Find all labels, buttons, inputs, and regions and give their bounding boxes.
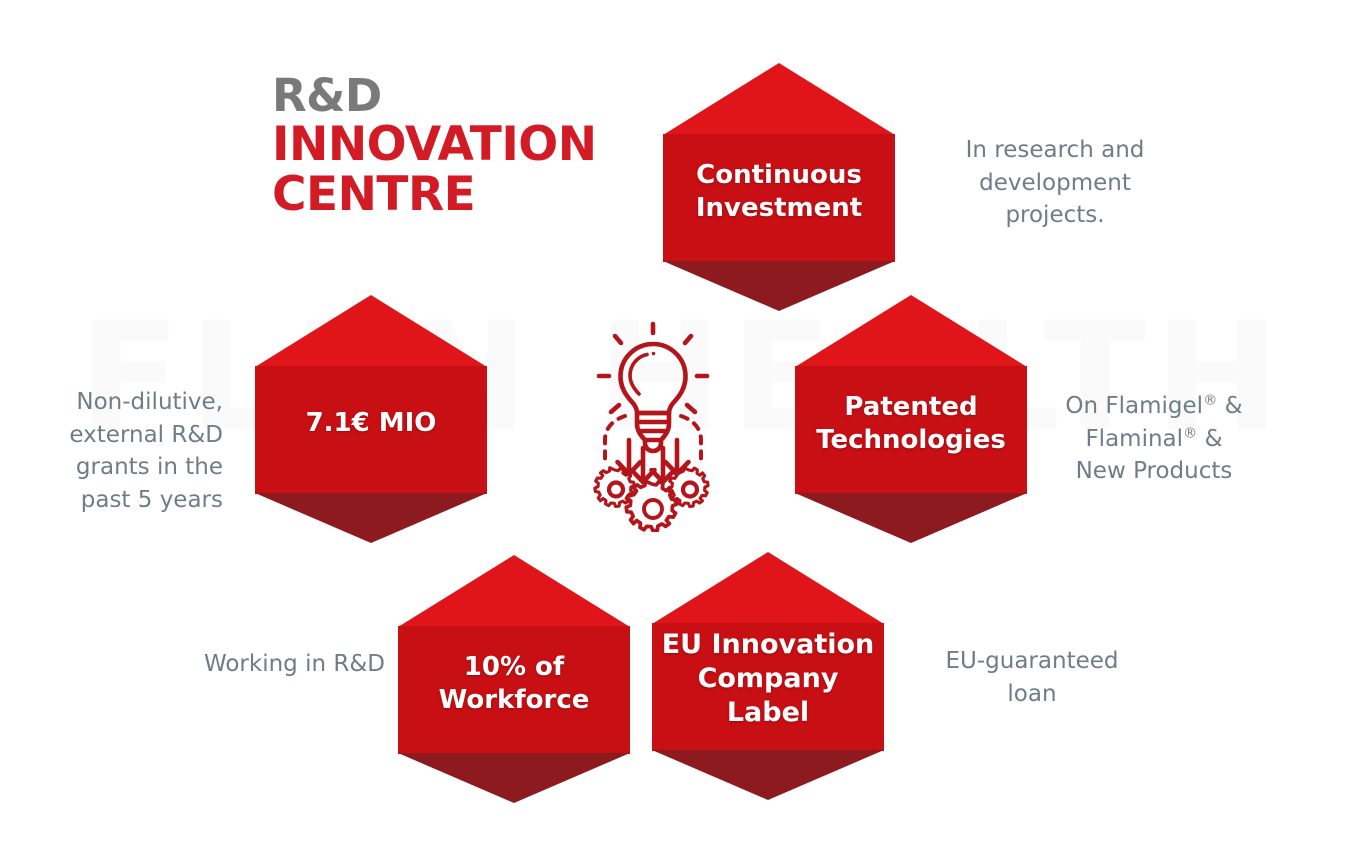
registered-trademark-icon: ® xyxy=(1183,425,1197,441)
note-line: On Flamigel® & xyxy=(1040,390,1268,423)
page-title: R&D INNOVATION CENTRE xyxy=(272,72,632,219)
note-line: In research and xyxy=(930,134,1180,167)
hexagon-workforce[interactable]: 10% of Workforce xyxy=(398,555,630,803)
note-text: On Flamigel xyxy=(1065,393,1203,419)
note-eu-innovation: EU-guaranteed loan xyxy=(912,645,1152,710)
note-text: & xyxy=(1197,426,1222,452)
note-line: Flaminal® & xyxy=(1040,423,1268,456)
title-line-centre: CENTRE xyxy=(272,170,632,220)
note-continuous-investment: In research and development projects. xyxy=(930,134,1180,232)
note-grants: Non-dilutive, external R&D grants in the… xyxy=(8,386,223,517)
note-workforce: Working in R&D xyxy=(160,648,385,681)
note-line: New Products xyxy=(1040,455,1268,488)
note-line: loan xyxy=(912,678,1152,711)
note-line: past 5 years xyxy=(8,484,223,517)
registered-trademark-icon: ® xyxy=(1203,392,1217,408)
note-line: external R&D xyxy=(8,419,223,452)
note-line: development xyxy=(930,167,1180,200)
note-line: Working in R&D xyxy=(160,648,385,681)
hexagon-grants-amount[interactable]: 7.1€ MIO xyxy=(255,295,487,543)
hexagon-continuous-investment[interactable]: Continuous Investment xyxy=(663,63,895,311)
note-line: Non-dilutive, xyxy=(8,386,223,419)
note-patented-technologies: On Flamigel® & Flaminal® & New Products xyxy=(1040,390,1268,488)
note-line: grants in the xyxy=(8,451,223,484)
lightbulb-gears-innovation-icon xyxy=(553,312,753,532)
note-text: Flaminal xyxy=(1085,426,1183,452)
title-line-rd: R&D xyxy=(272,72,632,120)
note-line: EU-guaranteed xyxy=(912,645,1152,678)
note-text: & xyxy=(1217,393,1242,419)
hexagon-eu-innovation-label[interactable]: EU Innovation Company Label xyxy=(652,552,884,800)
hexagon-patented-technologies[interactable]: Patented Technologies xyxy=(795,295,1027,543)
infographic-canvas: FLEN HEALTH R&D INNOVATION CENTRE xyxy=(0,0,1366,859)
note-line: projects. xyxy=(930,199,1180,232)
title-line-innovation: INNOVATION xyxy=(272,120,632,170)
